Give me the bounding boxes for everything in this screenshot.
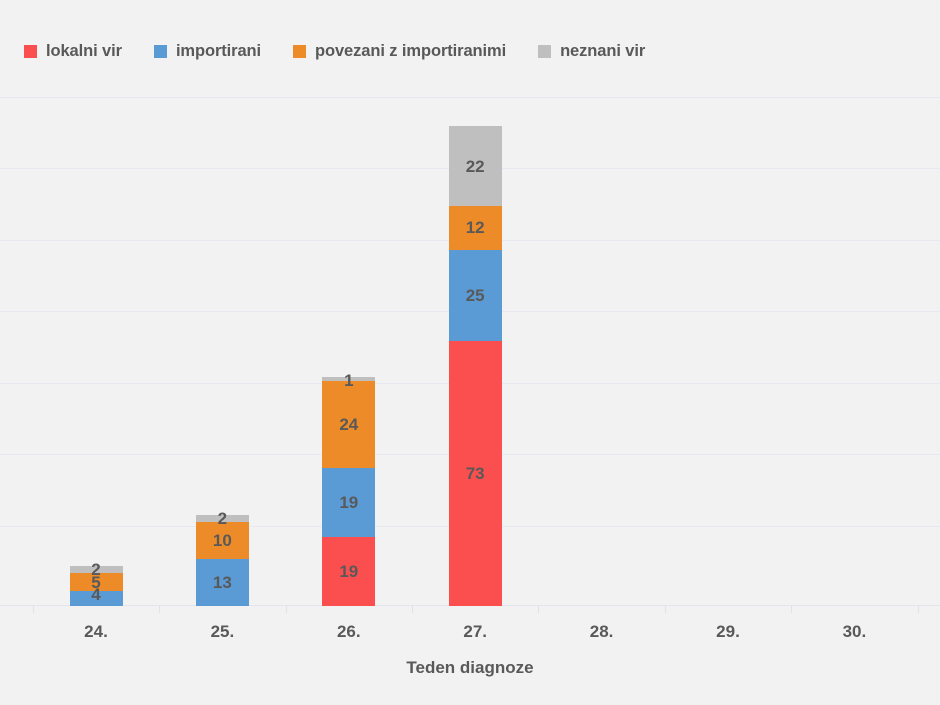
- bar-segment-value-label: 25: [466, 287, 485, 304]
- legend-item-label: lokalni vir: [46, 42, 122, 61]
- legend-swatch-icon: [24, 45, 37, 58]
- legend-item[interactable]: povezani z importiranimi: [293, 42, 506, 61]
- bar-segment-value-label: 19: [339, 563, 358, 580]
- x-axis-tick: [33, 606, 34, 613]
- legend-item-label: neznani vir: [560, 42, 645, 61]
- plot-area: 25421013124191922122573: [0, 97, 940, 606]
- x-axis-title-text: Teden diagnoze: [406, 658, 533, 678]
- bar-segment[interactable]: 19: [322, 537, 375, 606]
- legend-item[interactable]: importirani: [154, 42, 261, 61]
- x-axis-tick: [665, 606, 666, 613]
- x-axis-tick-label: 28.: [562, 622, 642, 642]
- bar-segment[interactable]: 12: [449, 206, 502, 250]
- x-axis-tick-label: 24.: [56, 622, 136, 642]
- bar-segment-value-label: 12: [466, 219, 485, 236]
- bar-segment[interactable]: 25: [449, 250, 502, 341]
- legend-swatch-icon: [538, 45, 551, 58]
- x-axis-tick-label: 26.: [309, 622, 389, 642]
- bar-segment[interactable]: 22: [449, 126, 502, 206]
- bar-group: 25421013124191922122573: [0, 97, 940, 606]
- bar-stack[interactable]: 21013: [196, 515, 249, 606]
- bar-segment-value-label: 19: [339, 494, 358, 511]
- bar-segment[interactable]: 2: [196, 515, 249, 522]
- bar-segment-value-label: 2: [218, 510, 227, 527]
- bar-stack[interactable]: 22122573: [449, 126, 502, 606]
- x-axis-tick: [412, 606, 413, 613]
- legend-item[interactable]: neznani vir: [538, 42, 645, 61]
- bar-segment[interactable]: 73: [449, 341, 502, 606]
- chart-legend: lokalni virimportiranipovezani z importi…: [0, 36, 940, 66]
- x-axis-tick: [286, 606, 287, 613]
- bar-stack[interactable]: 254: [70, 566, 123, 606]
- x-axis-tick: [538, 606, 539, 613]
- bar-segment-value-label: 13: [213, 574, 232, 591]
- bar-segment-value-label: 22: [466, 158, 485, 175]
- bar-segment[interactable]: 13: [196, 559, 249, 606]
- legend-swatch-icon: [293, 45, 306, 58]
- x-axis-tick: [918, 606, 919, 613]
- legend-item-label: povezani z importiranimi: [315, 42, 506, 61]
- bar-segment-value-label: 1: [344, 372, 353, 389]
- x-axis-tick-label: 30.: [814, 622, 894, 642]
- stacked-bar-chart: lokalni virimportiranipovezani z importi…: [0, 0, 940, 705]
- x-axis-tick-label: 27.: [435, 622, 515, 642]
- x-axis-tick-label: 25.: [182, 622, 262, 642]
- x-axis-tick: [159, 606, 160, 613]
- bar-segment[interactable]: 4: [70, 591, 123, 606]
- legend-item-label: importirani: [176, 42, 261, 61]
- bar-segment[interactable]: 24: [322, 381, 375, 468]
- bar-segment-value-label: 10: [213, 532, 232, 549]
- bar-segment-value-label: 24: [339, 416, 358, 433]
- x-axis-tick: [791, 606, 792, 613]
- legend-item[interactable]: lokalni vir: [24, 42, 122, 61]
- bar-segment[interactable]: 19: [322, 468, 375, 537]
- x-axis: 24.25.26.27.28.29.30.: [0, 606, 940, 652]
- x-axis-tick-label: 29.: [688, 622, 768, 642]
- x-axis-title: Teden diagnoze: [0, 658, 940, 678]
- bar-stack[interactable]: 1241919: [322, 377, 375, 606]
- bar-segment-value-label: 73: [466, 465, 485, 482]
- legend-swatch-icon: [154, 45, 167, 58]
- bar-segment-value-label: 4: [91, 586, 100, 603]
